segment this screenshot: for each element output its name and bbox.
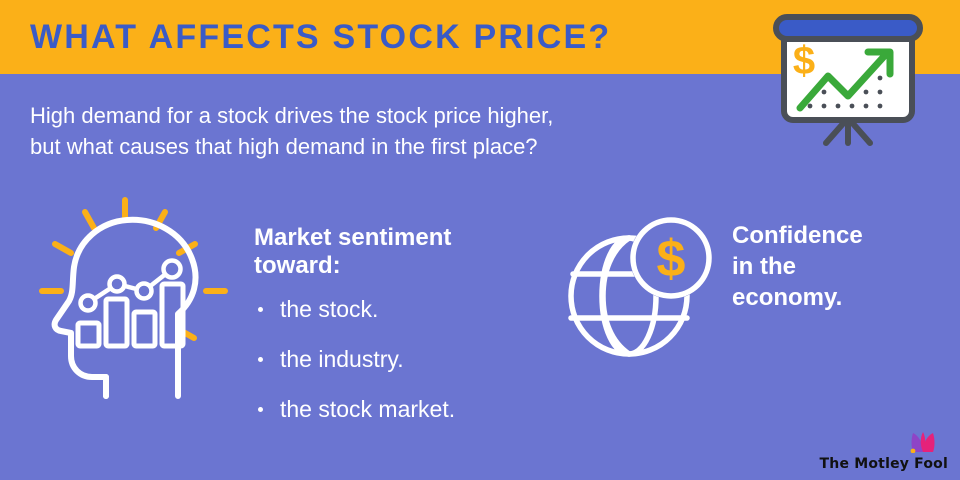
- list-item-label: the stock market.: [280, 396, 455, 422]
- confidence-line-2: in the: [732, 251, 912, 282]
- brand-logo[interactable]: The Motley Fool: [820, 456, 948, 472]
- brand-name: The Motley Fool: [820, 456, 948, 472]
- subtitle-text: High demand for a stock drives the stock…: [30, 100, 720, 162]
- economy-confidence-text: Confidence in the economy.: [732, 208, 912, 313]
- list-item: the stock.: [254, 296, 544, 322]
- market-sentiment-section: Market sentiment toward: the stock. the …: [28, 196, 544, 446]
- market-sentiment-heading: Market sentiment toward:: [254, 224, 544, 280]
- list-item-label: the stock.: [280, 296, 378, 322]
- list-item-label: the industry.: [280, 346, 404, 372]
- subtitle-line-1: High demand for a stock drives the stock…: [30, 100, 720, 131]
- bar-chart-bars: [78, 284, 183, 346]
- bullet-dot-icon: [258, 357, 263, 362]
- heading-line-1: Market sentiment: [254, 224, 544, 252]
- svg-text:$: $: [793, 39, 815, 83]
- bullet-dot-icon: [258, 307, 263, 312]
- bullet-dot-icon: [258, 407, 263, 412]
- jester-hat-icon: [906, 431, 940, 458]
- subtitle-line-2: but what causes that high demand in the …: [30, 131, 720, 162]
- head-with-bar-chart-icon: [28, 196, 238, 416]
- economy-confidence-section: $ Confidence in the economy.: [565, 208, 912, 378]
- market-sentiment-bullet-list: the stock. the industry. the stock marke…: [254, 296, 544, 422]
- presentation-board-icon: $: [766, 12, 931, 152]
- dollar-sign-glyph: $: [657, 230, 686, 288]
- dollar-sign-glyph: $: [793, 39, 815, 83]
- list-item: the stock market.: [254, 396, 544, 422]
- header-bar: What Affects Stock Price?: [0, 0, 760, 74]
- confidence-line-1: Confidence: [732, 220, 912, 251]
- economy-confidence-heading: Confidence in the economy.: [732, 220, 912, 313]
- market-sentiment-text: Market sentiment toward: the stock. the …: [254, 196, 544, 446]
- globe-with-dollar-icon: $: [565, 208, 720, 378]
- heading-line-2: toward:: [254, 252, 544, 280]
- page-title: What Affects Stock Price?: [30, 18, 611, 57]
- confidence-line-3: economy.: [732, 282, 912, 313]
- list-item: the industry.: [254, 346, 544, 372]
